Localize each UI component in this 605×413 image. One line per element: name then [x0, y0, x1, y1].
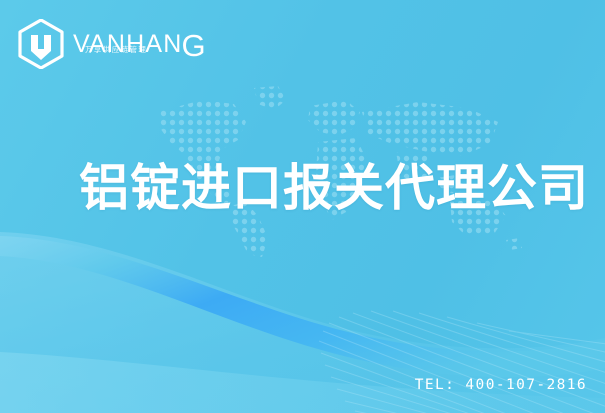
brand-wordmark-block: VANHANG 万享供应链管理	[73, 22, 207, 66]
contact-phone[interactable]: TEL: 400-107-2816	[415, 377, 587, 393]
brand-wordmark-accent: G	[182, 28, 206, 63]
brand-logo[interactable]: VANHANG 万享供应链管理	[18, 19, 207, 69]
promotional-banner: VANHANG 万享供应链管理 铝锭进口报关代理公司 TEL: 400-107-…	[0, 0, 605, 413]
page-title: 铝锭进口报关代理公司	[79, 161, 589, 215]
brand-subtitle-cn: 万享供应链管理	[85, 44, 147, 55]
vanhang-hexagon-cube-logo-icon	[18, 19, 64, 69]
